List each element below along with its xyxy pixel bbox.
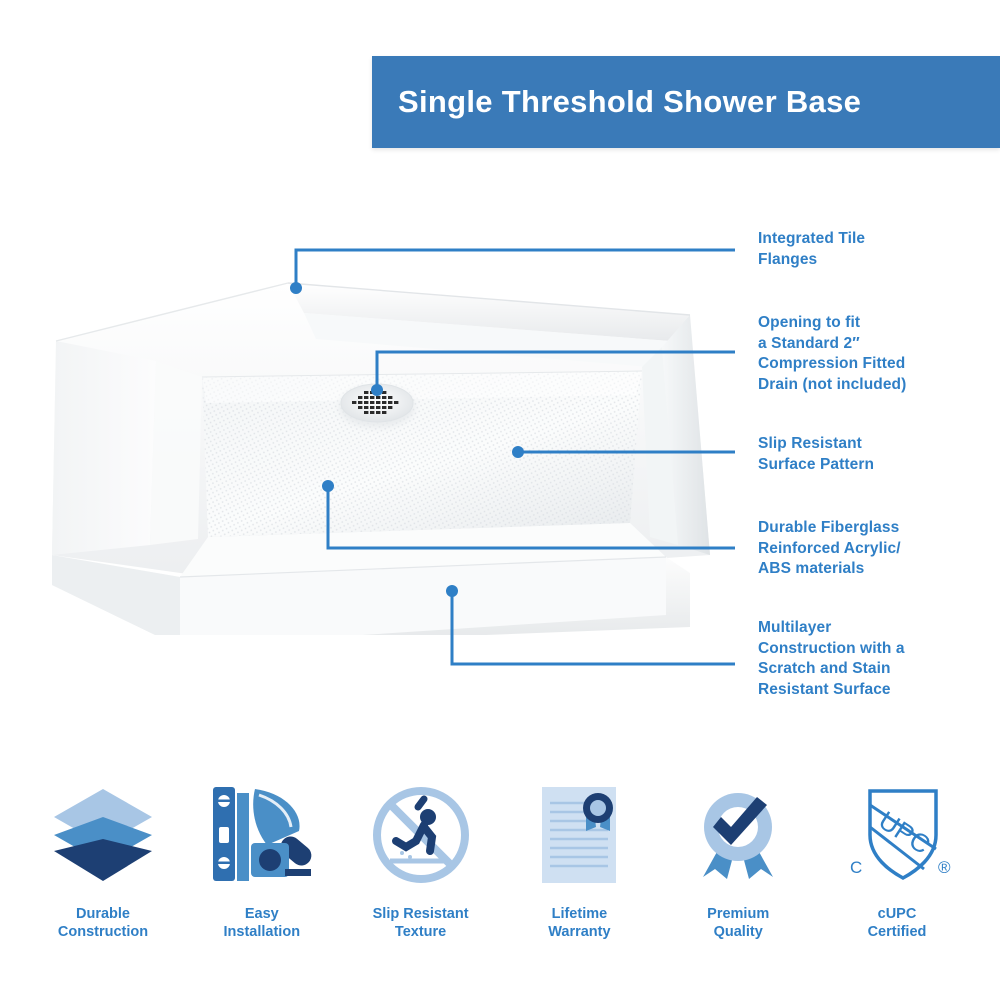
product-image-shower-base: [30, 255, 730, 635]
feature-label: EasyInstallation: [224, 905, 301, 941]
feature-label: cUPCCertified: [868, 905, 927, 941]
upc-mark-left: C: [850, 858, 862, 877]
callout-label-slip-resistant-surface-pattern: Slip ResistantSurface Pattern: [758, 434, 1000, 475]
callout-text: Durable FiberglassReinforced Acrylic/ABS…: [758, 519, 901, 577]
callout-label-multilayer-construction: MultilayerConstruction with aScratch and…: [758, 618, 1000, 700]
level-trowel-tape-icon: [207, 775, 317, 895]
title-banner: Single Threshold Shower Base: [372, 56, 1000, 148]
feature-label: DurableConstruction: [58, 905, 148, 941]
page-title: Single Threshold Shower Base: [398, 84, 861, 120]
infographic-canvas: Single Threshold Shower Base: [0, 0, 1000, 1000]
feature-label: LifetimeWarranty: [548, 905, 610, 941]
feature-label: PremiumQuality: [707, 905, 769, 941]
feature-strip: DurableConstruction EasyI: [0, 775, 1000, 965]
feature-item-easy-installation: EasyInstallation: [187, 775, 337, 941]
feature-label: Slip ResistantTexture: [373, 905, 469, 941]
certificate-ribbon-icon: [524, 775, 634, 895]
checkmark-rosette-icon: [683, 775, 793, 895]
feature-item-cupc-certified: UPC C ® cUPCCertified: [822, 775, 972, 941]
callout-text: MultilayerConstruction with aScratch and…: [758, 619, 905, 698]
callout-label-integrated-tile-flanges: Integrated TileFlanges: [758, 229, 1000, 270]
callout-text: Opening to fita Standard 2″Compression F…: [758, 314, 906, 393]
feature-item-premium-quality: PremiumQuality: [663, 775, 813, 941]
callout-label-drain-opening: Opening to fita Standard 2″Compression F…: [758, 313, 1000, 395]
no-slip-prohibition-icon: [366, 775, 476, 895]
feature-item-durable-construction: DurableConstruction: [28, 775, 178, 941]
feature-item-slip-resistant-texture: Slip ResistantTexture: [346, 775, 496, 941]
layered-diamonds-icon: [48, 775, 158, 895]
feature-item-lifetime-warranty: LifetimeWarranty: [504, 775, 654, 941]
callout-label-durable-materials: Durable FiberglassReinforced Acrylic/ABS…: [758, 518, 1000, 580]
callout-text: Integrated TileFlanges: [758, 230, 865, 268]
callout-text: Slip ResistantSurface Pattern: [758, 435, 874, 473]
upc-mark-right: ®: [938, 858, 951, 877]
upc-shield-icon: UPC C ®: [842, 775, 952, 895]
